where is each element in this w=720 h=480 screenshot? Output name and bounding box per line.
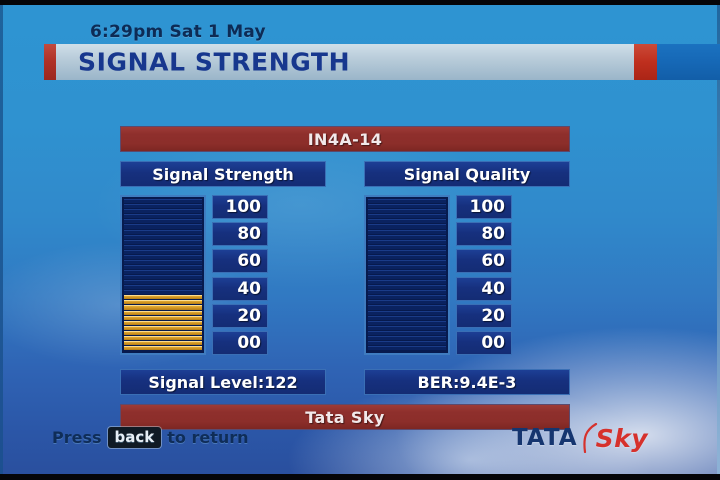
meter-segment [368, 300, 446, 304]
logo-tata-text: TATA [512, 425, 578, 451]
meter-segment [368, 230, 446, 234]
meter-segment [368, 326, 446, 330]
meter-segment [368, 204, 446, 208]
meter-segment [368, 311, 446, 315]
transponder-banner: IN4A-14 [120, 126, 570, 152]
signal-strength-column: Signal Strength 1008060402000 [120, 161, 326, 355]
meter-segment [124, 250, 202, 254]
meter-segment [368, 316, 446, 320]
header-red-block [634, 44, 657, 80]
header-plate: SIGNAL STRENGTH [56, 44, 634, 80]
meter-segment [124, 336, 202, 340]
logo-swoosh-icon [580, 423, 600, 453]
meter-segment [368, 224, 446, 228]
meter-segment [124, 230, 202, 234]
footer-prefix: Press [52, 428, 102, 447]
meter-segment [368, 331, 446, 335]
clock-display: 6:29pm Sat 1 May [90, 22, 266, 42]
meter-segment [124, 300, 202, 304]
page-header: SIGNAL STRENGTH [44, 44, 720, 80]
signal-panel: IN4A-14 Signal Strength 1008060402000 Si… [120, 126, 570, 430]
meter-segment [124, 316, 202, 320]
meter-segment [124, 265, 202, 269]
ber-value: BER:9.4E-3 [364, 369, 570, 395]
meter-segment [124, 346, 202, 350]
scale-tick: 100 [456, 195, 512, 219]
meter-segment [124, 295, 202, 299]
meter-segment [124, 260, 202, 264]
meter-segment [124, 204, 202, 208]
scale-tick: 80 [212, 222, 268, 246]
scale-tick: 00 [212, 331, 268, 355]
meter-segment [124, 219, 202, 223]
meter-segment [124, 199, 202, 203]
tv-signal-strength-screen: 6:29pm Sat 1 May SIGNAL STRENGTH IN4A-14… [0, 0, 720, 480]
footer-suffix: to return [167, 428, 248, 447]
meter-segment [368, 275, 446, 279]
signal-strength-bar [120, 195, 206, 355]
scale-tick: 80 [456, 222, 512, 246]
meter-segment [368, 240, 446, 244]
scale-tick: 20 [456, 304, 512, 328]
page-title: SIGNAL STRENGTH [78, 48, 350, 77]
meter-segment [124, 270, 202, 274]
meter-segment [124, 235, 202, 239]
signal-quality-meter: 1008060402000 [364, 195, 570, 355]
signal-quality-column: Signal Quality 1008060402000 [364, 161, 570, 355]
footer-hint: Press back to return [52, 427, 249, 448]
meter-segment [368, 260, 446, 264]
meter-segment [124, 311, 202, 315]
meter-segment [124, 245, 202, 249]
meter-segment [124, 209, 202, 213]
signal-level-value: Signal Level:122 [120, 369, 326, 395]
meter-segment [368, 235, 446, 239]
meter-segment [124, 275, 202, 279]
meter-segment [124, 240, 202, 244]
meter-segment [368, 255, 446, 259]
meter-segment [368, 219, 446, 223]
scale-tick: 20 [212, 304, 268, 328]
meter-segment [368, 305, 446, 309]
meter-segment [124, 341, 202, 345]
meter-segment [368, 346, 446, 350]
meter-segment [368, 336, 446, 340]
meters-row: Signal Strength 1008060402000 Signal Qua… [120, 161, 570, 355]
meter-segment [368, 290, 446, 294]
meter-segment [124, 331, 202, 335]
meter-segment [124, 285, 202, 289]
meter-segment [368, 280, 446, 284]
meter-segment [124, 280, 202, 284]
screen-bottom-letterbox [0, 474, 720, 480]
meter-segment [368, 209, 446, 213]
meter-segment [368, 250, 446, 254]
meter-segment [124, 224, 202, 228]
meter-segment [368, 295, 446, 299]
scale-tick: 100 [212, 195, 268, 219]
meter-segment [124, 326, 202, 330]
scale-tick: 40 [212, 277, 268, 301]
signal-strength-meter: 1008060402000 [120, 195, 326, 355]
signal-quality-scale: 1008060402000 [456, 195, 512, 355]
tata-sky-logo: TATA Sky [512, 423, 648, 453]
meter-segment [368, 214, 446, 218]
meter-segment [124, 290, 202, 294]
meter-segment [368, 341, 446, 345]
meter-segment [368, 321, 446, 325]
meter-segment [124, 321, 202, 325]
meter-segment [368, 270, 446, 274]
signal-quality-label: Signal Quality [364, 161, 570, 187]
scale-tick: 60 [212, 249, 268, 273]
logo-sky-text: Sky [596, 424, 648, 453]
header-red-accent [44, 44, 56, 80]
stats-row: Signal Level:122 BER:9.4E-3 [120, 369, 570, 395]
meter-segment [368, 265, 446, 269]
signal-strength-label: Signal Strength [120, 161, 326, 187]
signal-quality-bar [364, 195, 450, 355]
meter-segment [124, 214, 202, 218]
meter-segment [368, 245, 446, 249]
header-blue-block [657, 44, 720, 80]
meter-segment [124, 255, 202, 259]
meter-segment [368, 285, 446, 289]
scale-tick: 60 [456, 249, 512, 273]
signal-strength-scale: 1008060402000 [212, 195, 268, 355]
meter-segment [368, 199, 446, 203]
scale-tick: 40 [456, 277, 512, 301]
back-key-hint[interactable]: back [108, 427, 162, 448]
screen-left-edge [0, 5, 3, 475]
meter-segment [124, 305, 202, 309]
scale-tick: 00 [456, 331, 512, 355]
